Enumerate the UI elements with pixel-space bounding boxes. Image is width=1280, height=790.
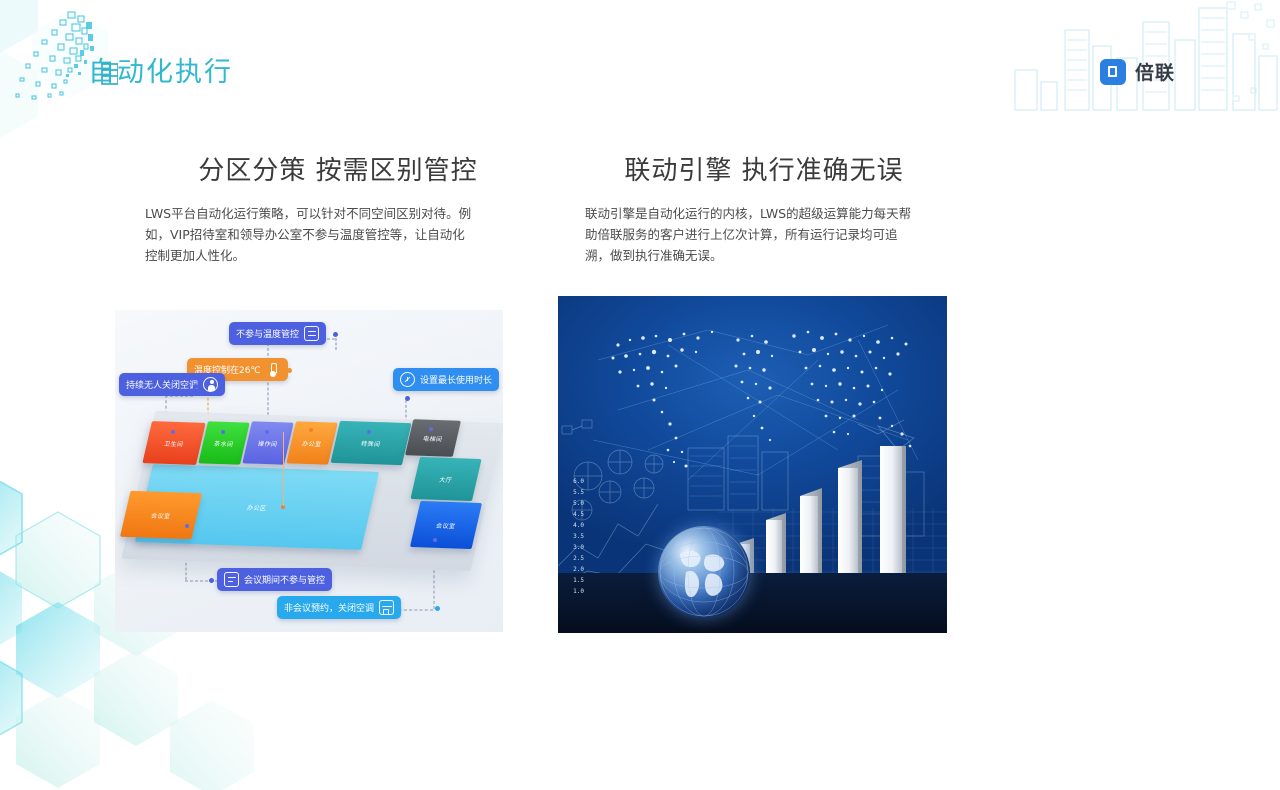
room-label: 茶水间	[213, 438, 234, 448]
section-right: 联动引擎 执行准确无误 联动引擎是自动化运行的内核，LWS的超级运算能力每天帮助…	[558, 150, 948, 266]
room-pin	[367, 430, 371, 434]
connector-line	[433, 565, 435, 609]
chip-label: 不参与温度管控	[236, 327, 299, 340]
room-pin	[171, 430, 175, 434]
section-left-title: 分区分策 按需区别管控	[161, 150, 515, 187]
section-right-title: 联动引擎 执行准确无误	[580, 150, 948, 187]
room-label: 特殊间	[360, 438, 381, 448]
page-title: 自动化执行	[88, 50, 233, 89]
calendar-booking-icon	[379, 600, 394, 615]
room-label: 大厅	[438, 474, 453, 483]
room-label: 卫生间	[163, 438, 184, 448]
room-pin	[185, 524, 189, 528]
chip-max-usage-duration[interactable]: 设置最长使用时长	[393, 368, 499, 391]
brand-logo: 倍联	[1100, 58, 1175, 85]
room-block-meeting-left[interactable]: 会议室	[120, 491, 202, 540]
room-block-special[interactable]: 特殊间	[330, 421, 411, 466]
room-block-elevator[interactable]: 电梯间	[405, 419, 461, 457]
chip-meeting-exempt[interactable]: 会议期间不参与管控	[217, 568, 332, 591]
presentation-screen-icon	[224, 572, 239, 587]
chip-label: 会议期间不参与管控	[244, 573, 325, 586]
occupancy-sensor-icon	[203, 377, 218, 392]
room-block-meeting-right[interactable]: 会议室	[410, 501, 482, 549]
chip-no-booking-shutdown[interactable]: 非会议预约，关闭空调	[277, 596, 401, 619]
room-pin	[221, 430, 225, 434]
monitor-icon	[304, 326, 319, 341]
room-pin	[265, 430, 269, 434]
ground-plane	[558, 573, 947, 633]
3d-globe	[658, 526, 750, 618]
room-label: 会议室	[435, 520, 456, 530]
connector-stem	[283, 432, 284, 506]
connector-dot	[209, 578, 214, 583]
connector-line	[335, 338, 337, 350]
chip-unoccupied-shutdown[interactable]: 持续无人关闭空调	[119, 373, 225, 396]
connector-dot	[287, 368, 292, 373]
axis-scale-labels: 6.0 5.5 5.0 4.5 4.0 3.5 3.0 2.5 2.0 1.5 …	[566, 476, 584, 597]
room-label: 操作间	[257, 438, 278, 448]
slide-header: 自动化执行 倍联	[0, 0, 1280, 120]
section-right-body: 联动引擎是自动化运行的内核，LWS的超级运算能力每天帮助倍联服务的客户进行上亿次…	[585, 203, 915, 266]
room-label: 办公室	[301, 438, 322, 448]
room-pin	[433, 538, 437, 542]
chip-label: 非会议预约，关闭空调	[284, 601, 374, 614]
room-block-restroom[interactable]: 卫生间	[142, 421, 205, 465]
thermometer-icon	[266, 362, 281, 377]
chip-label: 设置最长使用时长	[420, 373, 492, 386]
room-label: 办公区	[246, 502, 267, 512]
brand-name: 倍联	[1135, 58, 1175, 85]
chip-no-temperature-control[interactable]: 不参与温度管控	[229, 322, 326, 345]
connector-dot	[405, 396, 410, 401]
connector-dot	[435, 606, 440, 611]
zoned-automation-policy-diagram: 办公区 卫生间 茶水间 操作间 办公室 特殊间 电梯间 大厅 会议室 会议室 不…	[115, 310, 503, 632]
connector-line	[185, 558, 187, 580]
chip-label: 持续无人关闭空调	[126, 378, 198, 391]
connector-dot	[193, 384, 198, 389]
room-label: 会议室	[150, 510, 171, 520]
room-pin	[429, 427, 433, 431]
connector-dot	[333, 332, 338, 337]
rounded-square-logo-icon	[1100, 59, 1126, 85]
global-data-analytics-photo: 6.0 5.5 5.0 4.5 4.0 3.5 3.0 2.5 2.0 1.5 …	[558, 296, 947, 633]
section-left-body: LWS平台自动化运行策略，可以针对不同空间区别对待。例如，VIP招待室和领导办公…	[145, 203, 475, 266]
room-block-lobby[interactable]: 大厅	[410, 457, 481, 501]
section-left: 分区分策 按需区别管控 LWS平台自动化运行策略，可以针对不同空间区别对待。例如…	[115, 150, 515, 266]
timer-clock-icon	[400, 372, 415, 387]
room-pin	[309, 428, 313, 432]
room-label: 电梯间	[422, 433, 443, 443]
